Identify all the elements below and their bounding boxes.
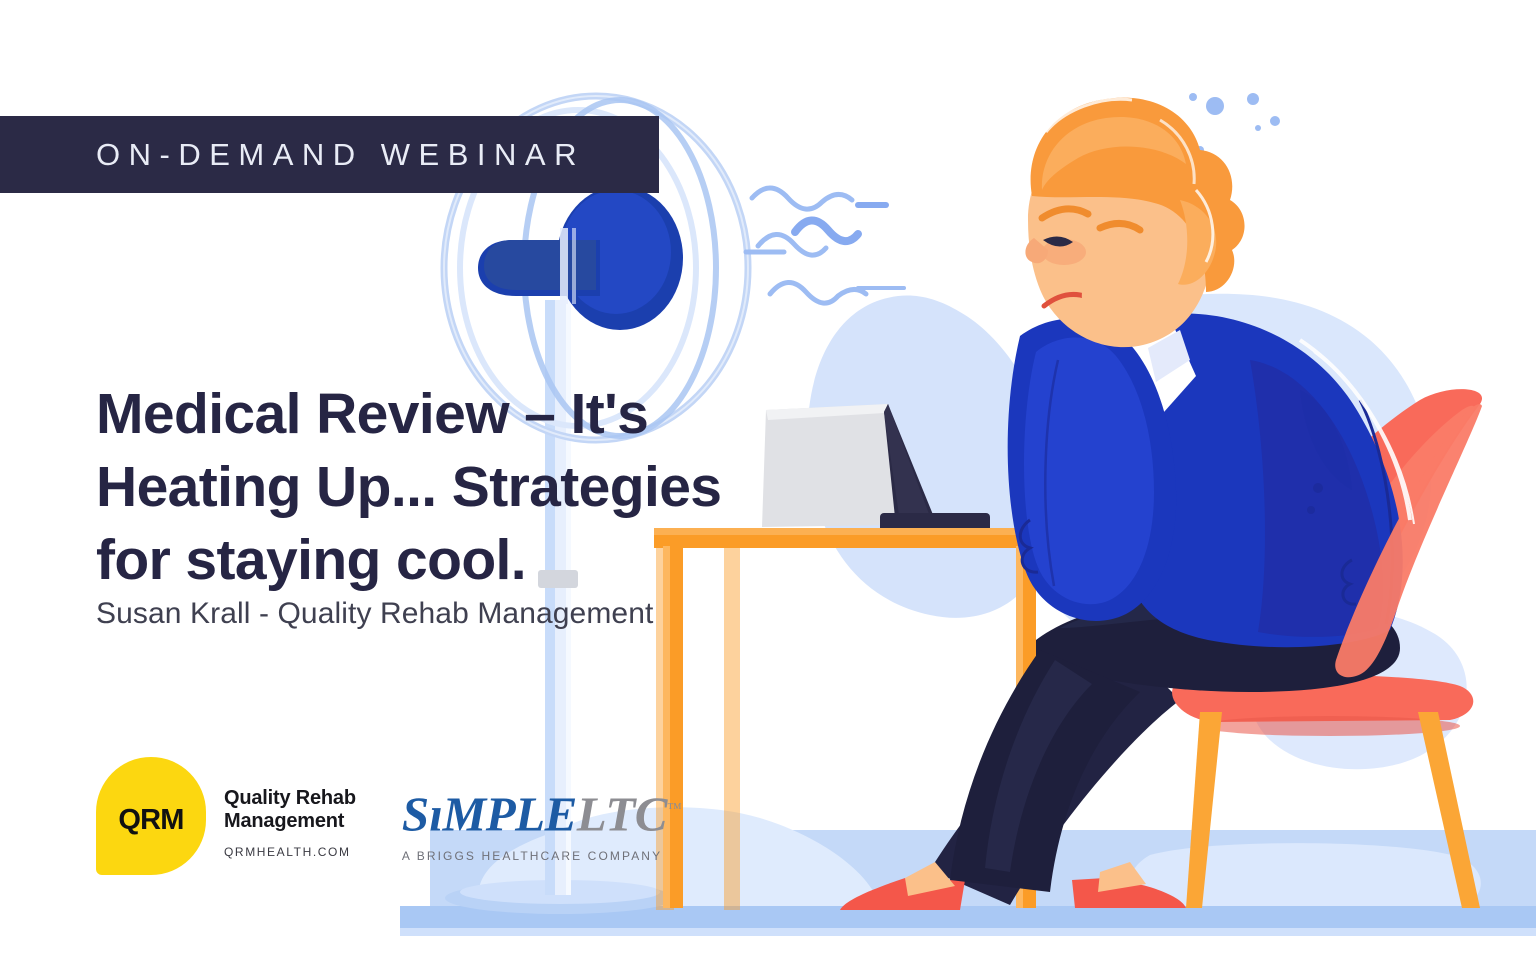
qrm-logo-mark: QRM (96, 757, 206, 875)
simpleltc-tagline: A BRIGGS HEALTHCARE COMPANY (402, 849, 682, 863)
eyebrow-banner: ON-DEMAND WEBINAR (0, 116, 659, 193)
headline-line-3: for staying cool. (96, 524, 836, 597)
eyebrow-label: ON-DEMAND WEBINAR (0, 137, 585, 173)
page-title: Medical Review – It's Heating Up... Stra… (96, 378, 836, 597)
qrm-logo-text: Quality Rehab Management QRMHEALTH.COM (224, 757, 356, 859)
qrm-website-url: QRMHEALTH.COM (224, 845, 356, 859)
headline-line-2: Heating Up... Strategies (96, 451, 836, 524)
qrm-name-line-2: Management (224, 810, 356, 833)
webinar-promo-banner: ON-DEMAND WEBINAR Medical Review – It's … (0, 0, 1536, 976)
qrm-mark-text: QRM (96, 804, 206, 837)
simpleltc-word-ltc: LTC (577, 786, 667, 841)
simpleltc-wordmark: SɪMPLELTC™ (402, 781, 682, 842)
logo-strip: QRM Quality Rehab Management QRMHEALTH.C… (96, 757, 682, 875)
presenter-byline: Susan Krall - Quality Rehab Management (96, 597, 653, 631)
trademark-icon: ™ (667, 801, 682, 817)
qrm-name-line-1: Quality Rehab (224, 787, 356, 810)
simpleltc-logo: SɪMPLELTC™ A BRIGGS HEALTHCARE COMPANY (402, 757, 682, 863)
headline-line-1: Medical Review – It's (96, 378, 836, 451)
simpleltc-word-simple: SɪMPLE (402, 786, 577, 841)
